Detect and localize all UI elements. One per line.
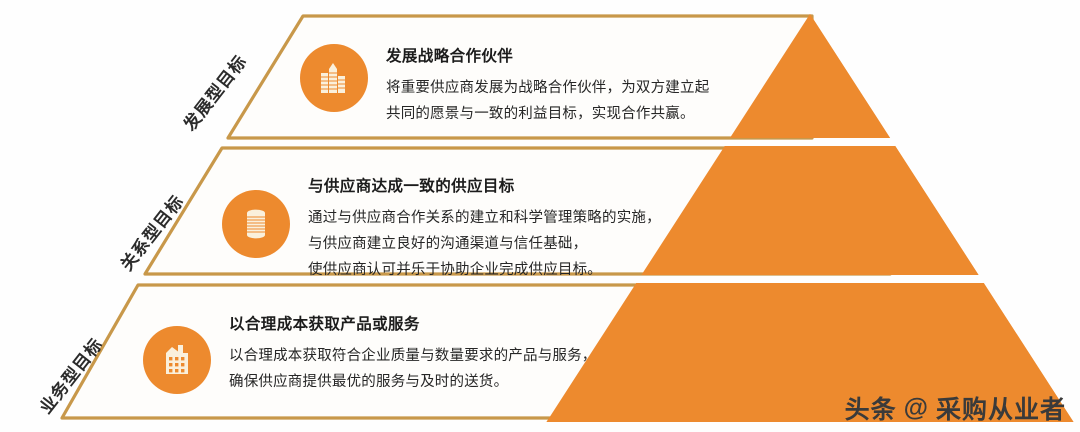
tier-block-development: 发展战略合作伙伴 将重要供应商发展为战略合作伙伴，为双方建立起 共同的愿景与一致… (300, 42, 709, 127)
watermark-account: 采购从业者 (936, 390, 1066, 426)
factory-building-icon (143, 326, 211, 394)
tier-text-relationship: 与供应商达成一致的供应目标 通过与供应商合作关系的建立和科学管理策略的实施， 与… (308, 172, 661, 283)
tier-block-relationship: 与供应商达成一致的供应目标 通过与供应商合作关系的建立和科学管理策略的实施， 与… (222, 172, 661, 283)
tier-desc-line: 共同的愿景与一致的利益目标，实现合作共赢。 (386, 101, 709, 127)
city-buildings-icon (300, 44, 368, 112)
tier-title-relationship: 与供应商达成一致的供应目标 (308, 174, 661, 196)
watermark-platform: 头条 (845, 390, 897, 426)
tier-desc-line: 通过与供应商合作关系的建立和科学管理策略的实施， (308, 205, 661, 231)
stacked-tower-icon (222, 190, 290, 258)
tier-desc-line: 与供应商建立良好的沟通渠道与信任基础， (308, 231, 661, 257)
tier-title-development: 发展战略合作伙伴 (386, 44, 709, 66)
tier-desc-line: 以合理成本获取符合企业质量与数量要求的产品与服务， (229, 343, 597, 369)
watermark: 头条 @ 采购从业者 (845, 390, 1066, 426)
pyramid-infographic: 发展型目标 关系型目标 业务型目标 (0, 0, 1080, 432)
tier-desc-line: 使供应商认可并乐于协助企业完成供应目标。 (308, 257, 661, 283)
tier-text-development: 发展战略合作伙伴 将重要供应商发展为战略合作伙伴，为双方建立起 共同的愿景与一致… (386, 42, 709, 127)
tier-block-business: 以合理成本获取产品或服务 以合理成本获取符合企业质量与数量要求的产品与服务， 确… (143, 310, 597, 395)
watermark-at-symbol: @ (904, 394, 929, 423)
tier-desc-line: 确保供应商提供最优的服务与及时的送货。 (229, 369, 597, 395)
tier-title-business: 以合理成本获取产品或服务 (229, 312, 597, 334)
tier-text-business: 以合理成本获取产品或服务 以合理成本获取符合企业质量与数量要求的产品与服务， 确… (229, 310, 597, 395)
tier-desc-line: 将重要供应商发展为战略合作伙伴，为双方建立起 (386, 75, 709, 101)
